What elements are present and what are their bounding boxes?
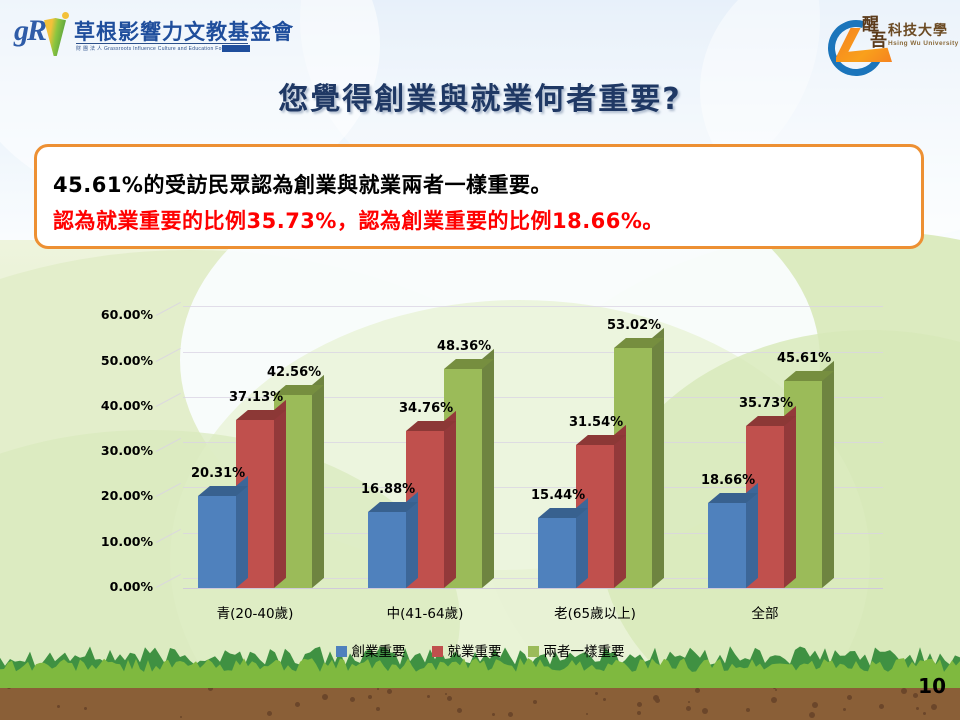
soil-speck: [695, 688, 700, 693]
bar-創業重要[interactable]: [198, 486, 236, 588]
y-axis-label: 50.00%: [83, 353, 153, 368]
logo-english-name: 財 團 法 人 Grassroots Influence Culture and…: [76, 45, 243, 52]
bar-chart: 0.00%10.00%20.00%30.00%40.00%50.00%60.00…: [0, 285, 960, 665]
grid-tick: [156, 438, 181, 452]
soil-speck: [812, 702, 818, 708]
bar-創業重要[interactable]: [538, 508, 576, 588]
callout-line-1: 45.61%的受訪民眾認為創業與就業兩者一樣重要。: [53, 167, 921, 203]
legend-item-創業重要[interactable]: 創業重要: [336, 640, 406, 660]
grid-tick: [156, 347, 181, 361]
bar-front-face: [368, 512, 406, 588]
bar-side-face: [444, 410, 456, 588]
soil-speck: [847, 695, 852, 700]
legend-item-兩者一樣重要[interactable]: 兩者一樣重要: [528, 640, 625, 660]
page-number: 10: [918, 674, 946, 698]
grid-tick: [156, 302, 181, 316]
bar-side-face: [312, 375, 324, 588]
soil-speck: [686, 706, 691, 711]
soil-speck: [57, 705, 60, 708]
bar-value-label: 48.36%: [437, 339, 491, 354]
bar-value-label: 18.66%: [701, 473, 755, 488]
logo-english-name: Hsing Wu University: [888, 40, 959, 47]
y-axis-label: 0.00%: [83, 579, 153, 594]
soil-speck: [492, 713, 495, 716]
soil-speck: [843, 708, 846, 711]
grid-tick: [156, 529, 181, 543]
dot-icon: [62, 12, 69, 19]
grid-tick: [156, 393, 181, 407]
soil-speck: [445, 693, 447, 695]
logo-char-mid: 吾: [870, 26, 887, 51]
bar-創業重要[interactable]: [708, 493, 746, 588]
soil-speck: [350, 697, 355, 702]
soil-speck: [702, 708, 708, 714]
x-axis-line: [183, 588, 883, 589]
soil-speck: [809, 712, 815, 718]
bar-side-face: [784, 406, 796, 588]
soil-speck: [533, 700, 537, 704]
soil-speck: [595, 692, 598, 695]
hsing-wu-university-logo: 醒 吾 科技大學 Hsing Wu University: [826, 6, 954, 68]
legend-item-就業重要[interactable]: 就業重要: [432, 640, 502, 660]
bar-value-label: 15.44%: [531, 488, 585, 503]
logo-chinese-name: 草根影響力文教基金會: [74, 16, 294, 46]
bar-value-label: 53.02%: [607, 318, 661, 333]
bar-side-face: [274, 400, 286, 588]
bar-front-face: [538, 518, 576, 588]
legend-label: 兩者一樣重要: [544, 644, 625, 660]
logo-chinese-name: 科技大學: [888, 20, 948, 40]
callout-line-2: 認為就業重要的比例35.73%，認為創業重要的比例18.66%。: [53, 203, 921, 239]
summary-callout: 45.61%的受訪民眾認為創業與就業兩者一樣重要。 認為就業重要的比例35.73…: [34, 144, 924, 249]
bar-value-label: 37.13%: [229, 390, 283, 405]
soil-speck: [901, 688, 907, 694]
logo-block-accent: [222, 45, 250, 52]
soil-speck: [586, 713, 588, 715]
soil-speck: [746, 708, 750, 712]
grid-tick: [156, 574, 181, 588]
grid-tick: [156, 483, 181, 497]
x-axis-category-label: 老(65歲以上): [518, 602, 672, 622]
soil-speck: [923, 712, 926, 715]
bar-side-face: [822, 361, 834, 588]
chart-legend: 創業重要就業重要兩者一樣重要: [0, 640, 960, 660]
bar-front-face: [708, 503, 746, 588]
soil-speck: [295, 702, 300, 707]
bar-value-label: 34.76%: [399, 401, 453, 416]
grassroots-foundation-logo: gR 草根影響力文教基金會 財 團 法 人 Grassroots Influen…: [14, 12, 254, 64]
soil-speck: [775, 689, 777, 691]
soil-speck: [387, 689, 392, 694]
y-axis-label: 30.00%: [83, 443, 153, 458]
bar-value-label: 45.61%: [777, 351, 831, 366]
bar-value-label: 16.88%: [361, 482, 415, 497]
soil-speck: [447, 696, 452, 701]
soil-speck: [457, 708, 462, 713]
bar-side-face: [482, 349, 494, 588]
soil-speck: [322, 694, 328, 700]
legend-swatch: [336, 646, 347, 657]
soil-speck: [916, 707, 919, 710]
bar-side-face: [614, 425, 626, 588]
bar-side-face: [652, 328, 664, 588]
x-axis-category-label: 全部: [688, 602, 842, 622]
soil-speck: [931, 704, 937, 710]
y-axis-label: 40.00%: [83, 398, 153, 413]
page-title: 您覺得創業與就業何者重要?: [0, 74, 960, 118]
slide-root: gR 草根影響力文教基金會 財 團 法 人 Grassroots Influen…: [0, 0, 960, 720]
soil-speck: [603, 698, 606, 701]
legend-swatch: [528, 646, 539, 657]
x-axis-category-label: 中(41-64歲): [348, 602, 502, 622]
soil-speck: [377, 688, 379, 690]
soil-speck: [427, 695, 430, 698]
bar-創業重要[interactable]: [368, 502, 406, 588]
soil-speck: [267, 711, 272, 716]
logo-divider: [76, 43, 248, 44]
bar-value-label: 35.73%: [739, 396, 793, 411]
soil-speck: [180, 716, 182, 718]
soil-speck: [655, 698, 660, 703]
soil-speck: [84, 707, 87, 710]
soil-speck: [637, 711, 641, 715]
soil-speck: [508, 712, 513, 717]
legend-label: 創業重要: [352, 644, 406, 660]
legend-label: 就業重要: [448, 644, 502, 660]
soil-speck: [688, 701, 690, 703]
legend-swatch: [432, 646, 443, 657]
soil-speck: [771, 697, 777, 703]
y-axis-label: 20.00%: [83, 488, 153, 503]
soil-speck: [637, 702, 642, 707]
soil-speck: [376, 707, 380, 711]
y-axis-label: 60.00%: [83, 307, 153, 322]
soil-speck: [879, 704, 884, 709]
x-axis-category-label: 青(20-40歲): [178, 602, 332, 622]
gridline: [183, 306, 883, 307]
y-axis-label: 10.00%: [83, 534, 153, 549]
bar-value-label: 20.31%: [191, 466, 245, 481]
soil-speck: [368, 695, 372, 699]
bar-value-label: 31.54%: [569, 415, 623, 430]
bar-value-label: 42.56%: [267, 365, 321, 380]
bar-front-face: [198, 496, 236, 588]
